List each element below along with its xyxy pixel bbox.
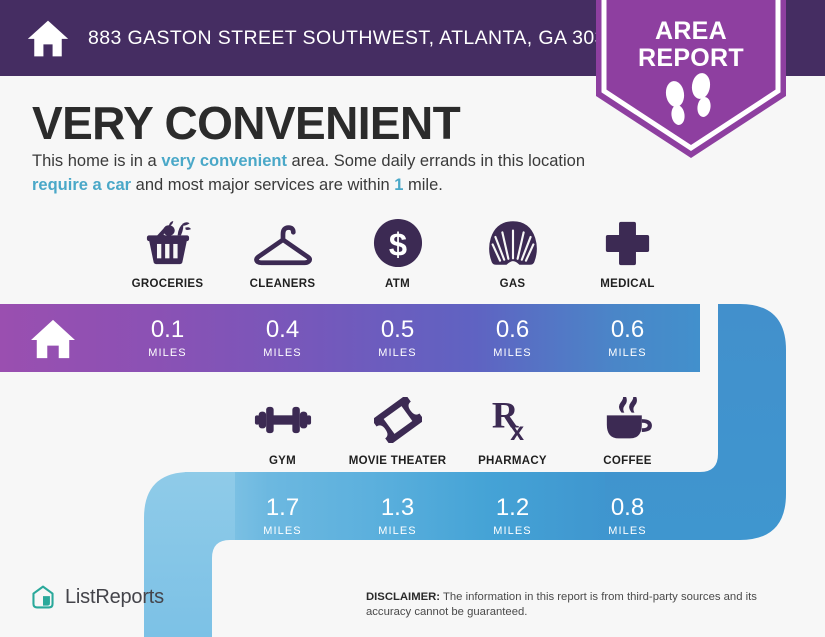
medical-cross-icon: [604, 216, 651, 270]
svg-text:x: x: [510, 419, 524, 443]
amenity-label: PHARMACY: [478, 455, 547, 467]
badge-shield-shape: [596, 0, 786, 158]
amenity-label: GROCERIES: [132, 278, 204, 290]
disclaimer-label: DISCLAIMER:: [366, 591, 440, 603]
amenity-label: GAS: [500, 278, 526, 290]
brand-logo: ListReports: [30, 584, 164, 610]
coffee-cup-icon: [603, 393, 653, 447]
ribbon-home-cell: [30, 318, 76, 360]
movie-ticket-icon: [374, 393, 422, 447]
amenity-gym: GYM: [225, 393, 340, 467]
ribbon-row2-band: [185, 472, 605, 540]
amenity-coffee: COFFEE: [570, 393, 685, 467]
summary-part-1: This home is in a: [32, 152, 161, 170]
amenity-movie-theater: MOVIE THEATER: [340, 393, 455, 467]
amenity-icon-row-1: GROCERIES CLEANERS $ ATM: [110, 216, 685, 290]
amenity-groceries: GROCERIES: [110, 216, 225, 290]
gym-dumbbell-icon: [254, 393, 312, 447]
amenity-label: MOVIE THEATER: [349, 455, 447, 467]
amenity-atm: $ ATM: [340, 216, 455, 290]
cleaners-hanger-icon: [252, 216, 314, 270]
area-report-infographic: 883 GASTON STREET SOUTHWEST, ATLANTA, GA…: [0, 0, 825, 637]
amenity-label: ATM: [385, 278, 410, 290]
ribbon-left-tail: [144, 472, 235, 637]
page-title: VERY CONVENIENT: [32, 96, 460, 150]
summary-part-3: and most major services are within: [131, 176, 394, 194]
amenity-label: COFFEE: [603, 455, 651, 467]
gas-shell-icon: [488, 216, 538, 270]
amenity-pharmacy: R x PHARMACY: [455, 393, 570, 467]
summary-text: This home is in a very convenient area. …: [32, 150, 592, 198]
atm-dollar-icon: $: [373, 216, 423, 270]
disclaimer: DISCLAIMER: The information in this repo…: [366, 590, 790, 621]
amenity-gas: GAS: [455, 216, 570, 290]
brand-name: ListReports: [65, 586, 164, 609]
home-icon: [26, 16, 70, 60]
property-address: 883 GASTON STREET SOUTHWEST, ATLANTA, GA…: [88, 27, 628, 50]
pharmacy-rx-icon: R x: [490, 393, 536, 447]
amenity-label: GYM: [269, 455, 296, 467]
amenity-icon-row-2: GYM MOVIE THEATER R x PHARMACY: [225, 393, 685, 467]
summary-part-4: mile.: [403, 176, 442, 194]
summary-highlight-2: require a car: [32, 176, 131, 194]
amenity-cleaners: CLEANERS: [225, 216, 340, 290]
summary-highlight-1: very convenient: [161, 152, 287, 170]
amenity-label: MEDICAL: [600, 278, 655, 290]
svg-text:$: $: [388, 226, 406, 263]
amenity-label: CLEANERS: [250, 278, 316, 290]
amenity-medical: MEDICAL: [570, 216, 685, 290]
listreports-house-icon: [30, 584, 56, 610]
summary-part-2: area. Some daily errands in this locatio…: [287, 152, 585, 170]
ribbon-row1-band: [0, 304, 700, 372]
groceries-basket-icon: [143, 216, 193, 270]
area-report-badge: AREA REPORT: [596, 0, 786, 160]
